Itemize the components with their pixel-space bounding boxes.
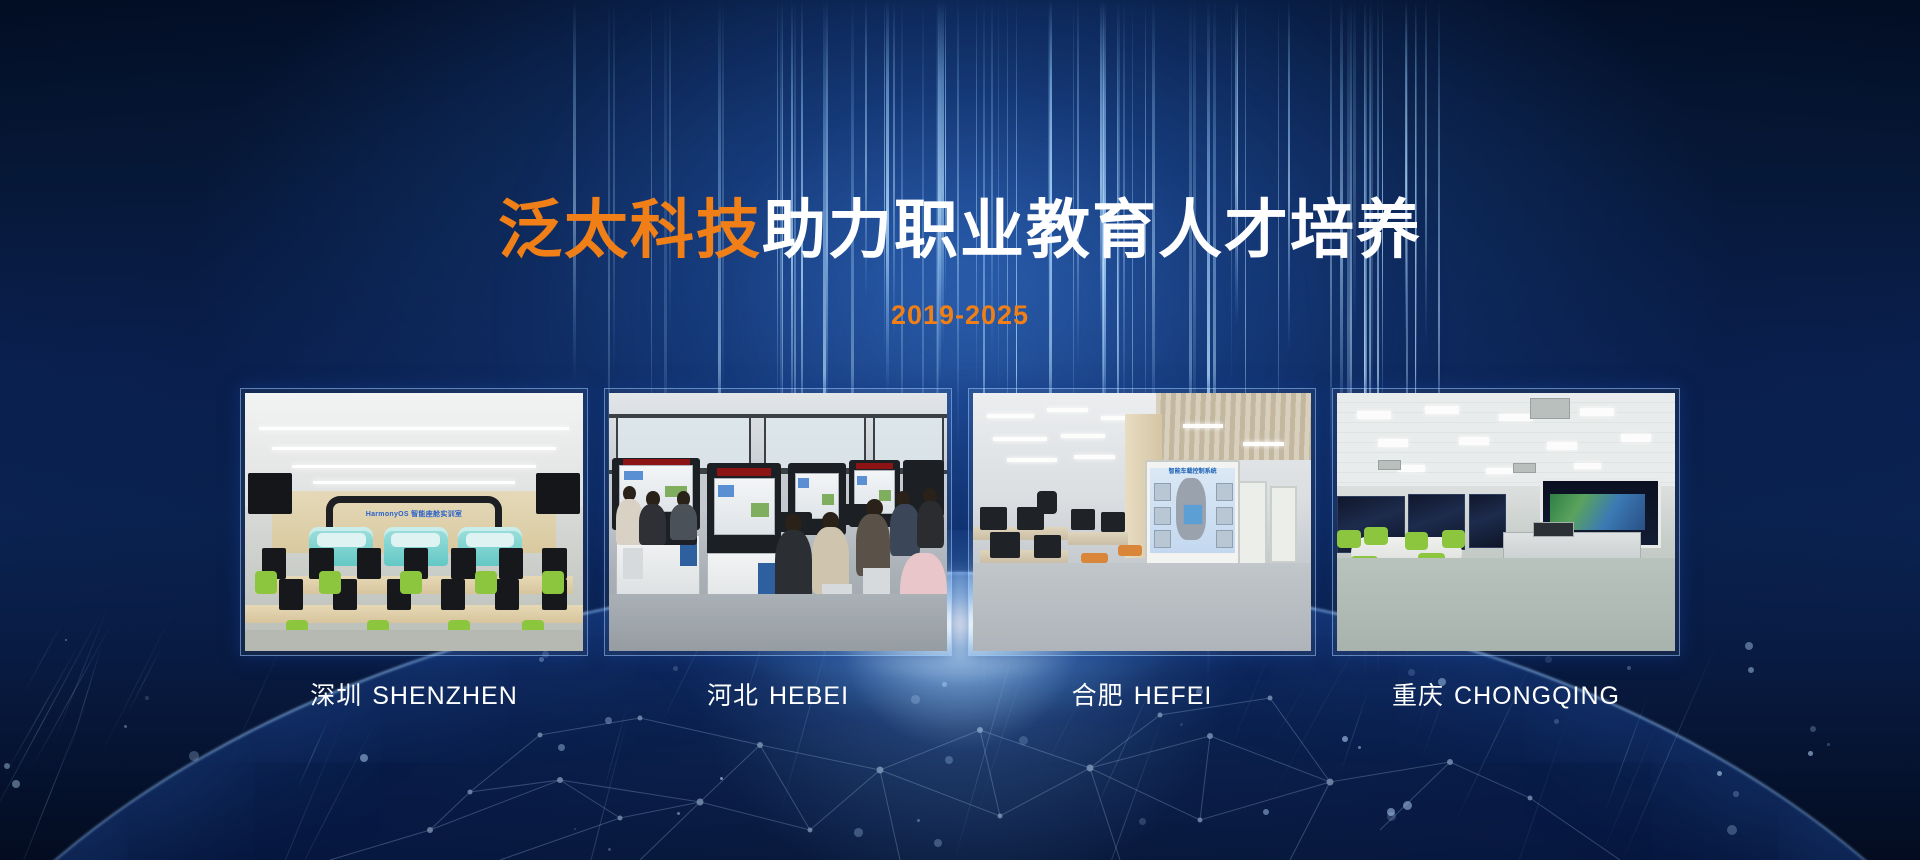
particle-dot bbox=[1180, 723, 1183, 726]
caption-hefei: 合肥HEFEI bbox=[968, 676, 1316, 716]
caption-shenzhen-cn: 深圳 bbox=[310, 682, 362, 710]
diagonal-ray bbox=[10, 703, 87, 860]
diagonal-ray bbox=[953, 621, 1022, 860]
particle-dot bbox=[1827, 743, 1830, 746]
particle-dot bbox=[1342, 736, 1348, 742]
particle-dot bbox=[1019, 736, 1028, 745]
particle-dot bbox=[1139, 818, 1146, 825]
caption-hebei-cn: 河北 bbox=[707, 682, 759, 710]
particle-dot bbox=[917, 819, 920, 822]
particle-dot bbox=[12, 780, 20, 788]
particle-dot bbox=[145, 696, 149, 700]
gallery-card-hefei[interactable]: 智能车载控制系统 bbox=[968, 388, 1316, 656]
caption-hebei: 河北HEBEI bbox=[604, 676, 952, 716]
caption-shenzhen: 深圳SHENZHEN bbox=[240, 676, 588, 716]
particle-dot bbox=[720, 777, 723, 780]
particle-dot bbox=[1810, 726, 1816, 732]
photo-gallery: HarmonyOS 智能座舱实训室 bbox=[240, 388, 1680, 656]
caption-hebei-en: HEBEI bbox=[769, 682, 849, 710]
brand-name: 泛太科技 bbox=[498, 194, 762, 266]
diagonal-ray bbox=[97, 609, 175, 762]
photo1-sign-text: HarmonyOS 智能座舱实训室 bbox=[333, 509, 495, 519]
particle-dot bbox=[1748, 667, 1754, 673]
diagonal-ray bbox=[297, 719, 329, 790]
year-range-label: 2019-2025 bbox=[0, 300, 1920, 331]
particle-dot bbox=[1545, 656, 1552, 663]
particle-dot bbox=[1727, 825, 1737, 835]
diagonal-ray bbox=[246, 717, 345, 860]
caption-hefei-cn: 合肥 bbox=[1072, 682, 1124, 710]
particle-dot bbox=[1627, 666, 1631, 670]
particle-dot bbox=[945, 756, 953, 764]
caption-chongqing-cn: 重庆 bbox=[1392, 682, 1444, 710]
particle-dot bbox=[1733, 791, 1739, 797]
particle-dot bbox=[1717, 771, 1722, 776]
diagonal-ray bbox=[23, 620, 64, 694]
particle-dot bbox=[124, 725, 127, 728]
caption-hefei-en: HEFEI bbox=[1134, 682, 1213, 710]
caption-chongqing: 重庆CHONGQING bbox=[1332, 676, 1680, 716]
diagonal-ray bbox=[1599, 718, 1660, 860]
particle-dot bbox=[1263, 809, 1269, 815]
photo3-sign-text: 智能车载控制系统 bbox=[1150, 466, 1235, 475]
headline-rest: 助力职业教育人才培养 bbox=[762, 194, 1422, 266]
diagonal-ray bbox=[127, 647, 162, 715]
diagonal-ray bbox=[2, 645, 79, 780]
particle-dot bbox=[1745, 642, 1753, 650]
particle-dot bbox=[677, 812, 680, 815]
gallery-card-shenzhen[interactable]: HarmonyOS 智能座舱实训室 bbox=[240, 388, 588, 656]
particle-dot bbox=[934, 839, 942, 847]
caption-chongqing-en: CHONGQING bbox=[1454, 682, 1620, 710]
particle-dot bbox=[608, 848, 611, 851]
gallery-card-hebei[interactable] bbox=[604, 388, 952, 656]
particle-dot bbox=[673, 666, 678, 671]
photo-smart-vehicle-control-system-cabinet: 智能车载控制系统 bbox=[973, 393, 1311, 651]
diagonal-ray bbox=[975, 642, 1033, 818]
diagonal-ray bbox=[0, 611, 103, 831]
particle-dot bbox=[1808, 751, 1813, 756]
photo-harmonyos-smart-vehicle-classroom: HarmonyOS 智能座舱实训室 bbox=[245, 393, 583, 651]
diagonal-ray bbox=[30, 622, 113, 770]
promo-banner: 泛太科技助力职业教育人才培养 2019-2025 HarmonyOS 智能座舱实… bbox=[0, 0, 1920, 860]
page-title: 泛太科技助力职业教育人才培养 bbox=[0, 198, 1920, 262]
particle-dot bbox=[65, 639, 67, 641]
particle-dot bbox=[605, 717, 612, 724]
diagonal-ray bbox=[1495, 708, 1572, 860]
diagonal-ray bbox=[275, 714, 380, 860]
particle-dot bbox=[360, 754, 368, 762]
particle-dot bbox=[1408, 669, 1415, 676]
particle-dot bbox=[558, 744, 565, 751]
particle-dot bbox=[1403, 801, 1412, 810]
photo-industrial-automation-training-lab bbox=[609, 393, 947, 651]
particle-dot bbox=[854, 828, 863, 837]
particle-dot bbox=[1358, 746, 1361, 749]
photo-smart-manufacturing-demo-classroom bbox=[1337, 393, 1675, 651]
diagonal-ray bbox=[1082, 717, 1163, 860]
gallery-card-chongqing[interactable] bbox=[1332, 388, 1680, 656]
particle-dot bbox=[189, 751, 199, 761]
caption-row: 深圳SHENZHEN 河北HEBEI 合肥HEFEI 重庆CHONGQING bbox=[240, 676, 1680, 716]
caption-shenzhen-en: SHENZHEN bbox=[372, 682, 518, 710]
particle-dot bbox=[1554, 719, 1559, 724]
particle-dot bbox=[574, 828, 576, 830]
